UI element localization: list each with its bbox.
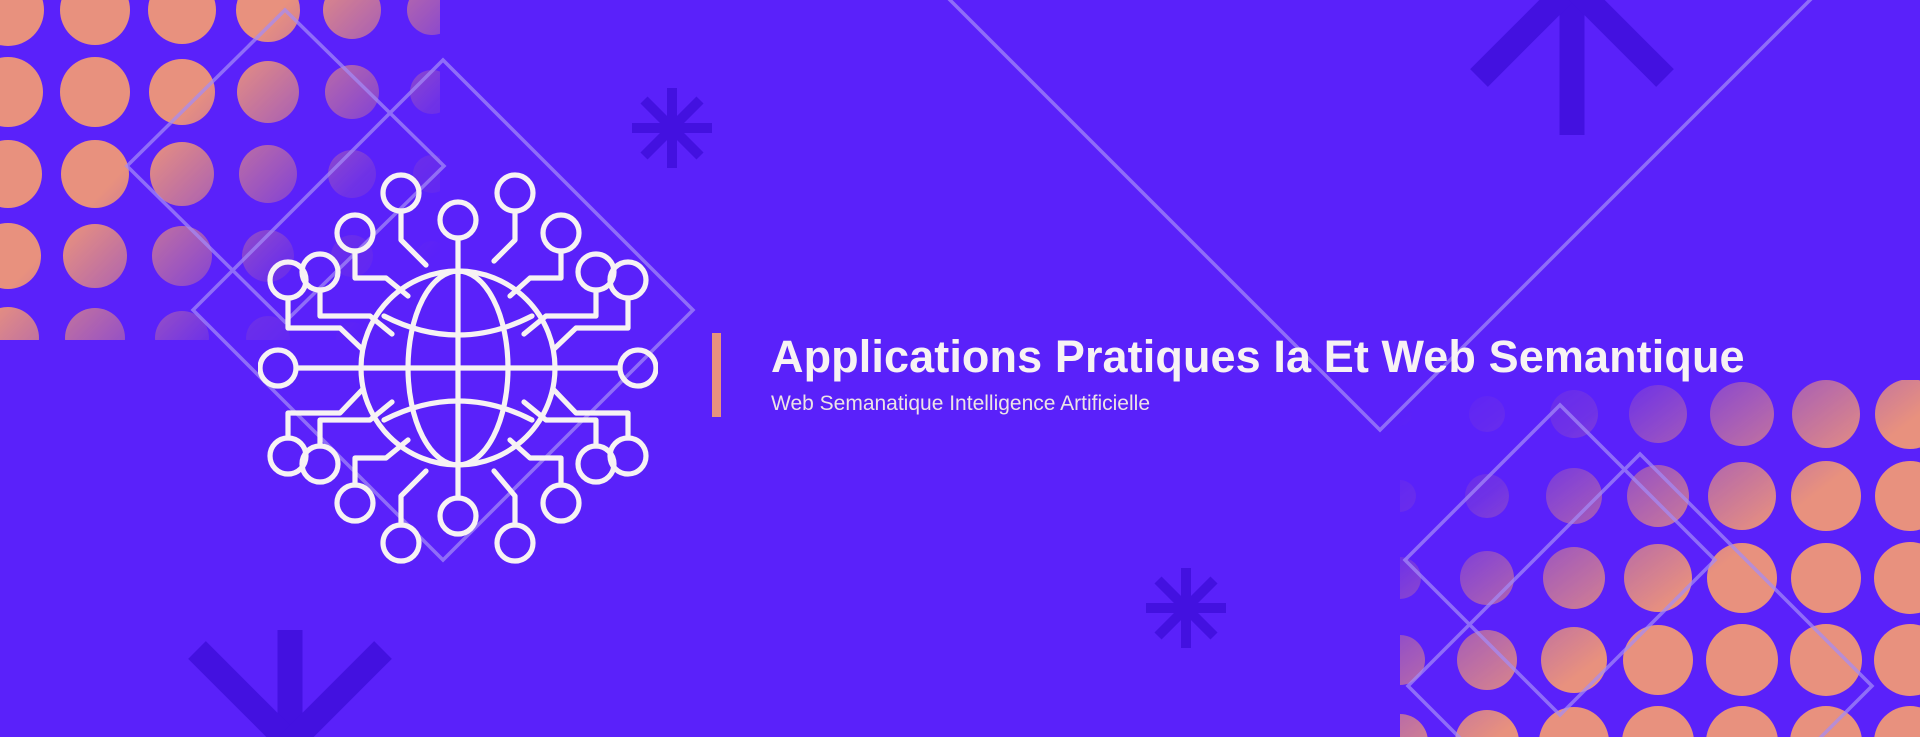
globe-shape: [361, 271, 555, 465]
page-title: Applications Pratiques Ia Et Web Semanti…: [771, 333, 1745, 381]
hero-text-block: Applications Pratiques Ia Et Web Semanti…: [712, 333, 1745, 417]
globe-network-icon: [258, 168, 658, 568]
page-subtitle: Web Semanatique Intelligence Artificiell…: [771, 390, 1745, 417]
accent-bar: [712, 333, 721, 417]
banner-hero: Applications Pratiques Ia Et Web Semanti…: [0, 0, 1920, 737]
